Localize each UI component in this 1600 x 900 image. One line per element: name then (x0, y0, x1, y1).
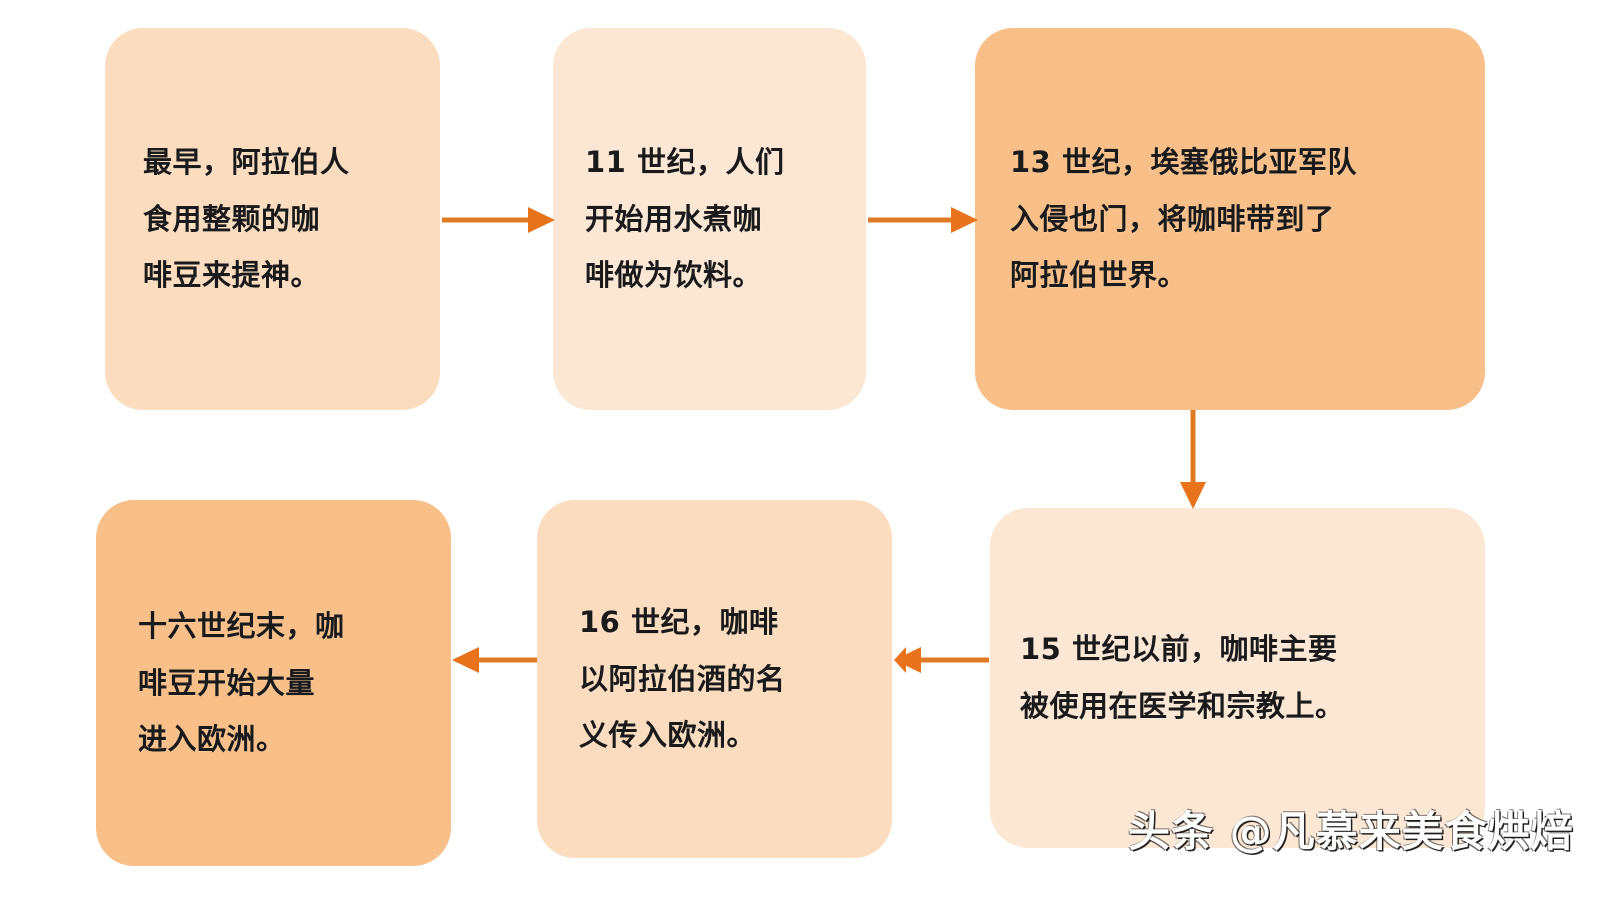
arrow-down-icon-3-to-4 (1176, 408, 1210, 512)
flow-node-5: 16 世纪，咖啡 以阿拉伯酒的名 义传入欧洲。 (537, 500, 892, 858)
flow-node-1-text: 最早，阿拉伯人 食用整颗的咖 啡豆来提神。 (143, 134, 440, 304)
flow-node-5-text: 16 世纪，咖啡 以阿拉伯酒的名 义传入欧洲。 (579, 594, 892, 764)
arrow-right-icon-1-to-2 (440, 203, 558, 237)
arrow-left-icon-4-to-5 (893, 643, 991, 677)
arrow-left-icon-5-to-6 (451, 643, 539, 677)
flow-node-6-text: 十六世纪末，咖 啡豆开始大量 进入欧洲。 (138, 598, 451, 768)
flow-node-3: 13 世纪，埃塞俄比亚军队 入侵也门，将咖啡带到了 阿拉伯世界。 (975, 28, 1485, 410)
flow-node-2-text: 11 世纪，人们 开始用水煮咖 啡做为饮料。 (585, 134, 866, 304)
flow-node-4-text: 15 世纪以前，咖啡主要 被使用在医学和宗教上。 (1020, 621, 1485, 734)
arrow-right-icon-2-to-3 (866, 203, 981, 237)
flow-node-6: 十六世纪末，咖 啡豆开始大量 进入欧洲。 (96, 500, 451, 866)
flow-node-1: 最早，阿拉伯人 食用整颗的咖 啡豆来提神。 (105, 28, 440, 410)
flow-node-3-text: 13 世纪，埃塞俄比亚军队 入侵也门，将咖啡带到了 阿拉伯世界。 (1010, 134, 1485, 304)
flow-node-4: 15 世纪以前，咖啡主要 被使用在医学和宗教上。 (990, 508, 1485, 848)
flowchart-canvas: 最早，阿拉伯人 食用整颗的咖 啡豆来提神。 11 世纪，人们 开始用水煮咖 啡做… (0, 0, 1600, 900)
flow-node-2: 11 世纪，人们 开始用水煮咖 啡做为饮料。 (553, 28, 866, 410)
